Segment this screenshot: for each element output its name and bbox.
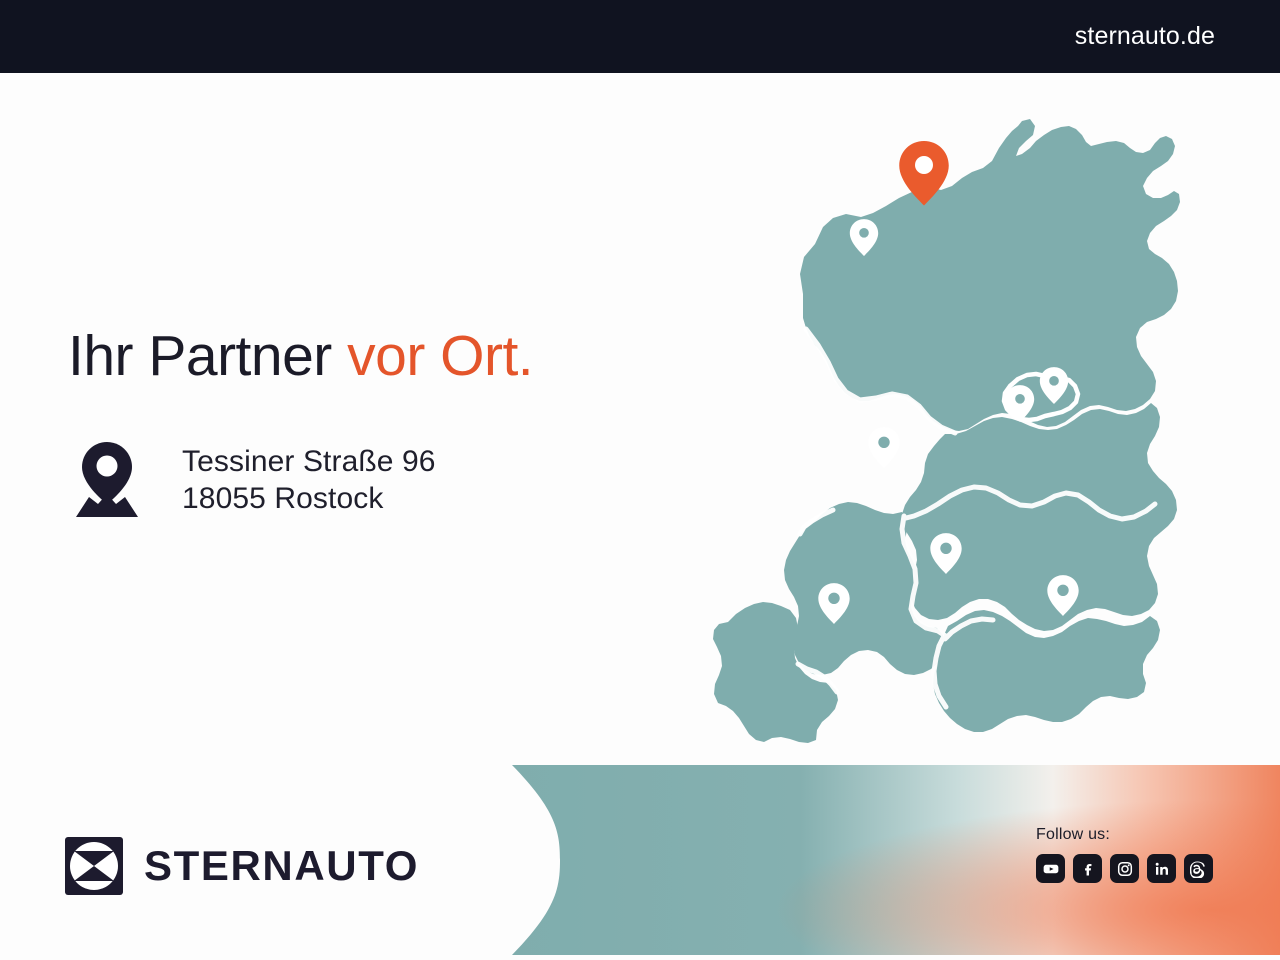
brand-name: STERNAUTO (144, 842, 419, 890)
region-mecklenburg-vorpommern (800, 119, 1180, 431)
linkedin-icon[interactable] (1147, 854, 1176, 883)
address-line-street: Tessiner Straße 96 (182, 443, 436, 480)
dealer-location-map[interactable] (700, 86, 1220, 746)
brand-logo[interactable]: STERNAUTO (65, 837, 419, 895)
page-root: sternauto.de Ihr Partner vor Ort. Tessin… (0, 0, 1280, 960)
instagram-icon[interactable] (1110, 854, 1139, 883)
follow-us-block: Follow us: (1036, 826, 1236, 883)
facebook-icon[interactable] (1073, 854, 1102, 883)
headline-primary: Ihr Partner (68, 324, 332, 388)
top-bar: sternauto.de (0, 0, 1280, 73)
address-lines: Tessiner Straße 96 18055 Rostock (182, 437, 436, 517)
threads-icon[interactable] (1184, 854, 1213, 883)
page-title: Ihr Partner vor Ort. (68, 327, 533, 387)
location-marker-magdeburg[interactable] (868, 427, 899, 468)
headline-accent: vor Ort. (332, 324, 533, 388)
social-links-row (1036, 854, 1236, 883)
sternauto-logo-icon (65, 837, 123, 895)
website-url[interactable]: sternauto.de (1075, 22, 1280, 51)
location-pin-icon (74, 440, 140, 518)
youtube-icon[interactable] (1036, 854, 1065, 883)
address-block: Tessiner Straße 96 18055 Rostock (74, 437, 436, 518)
address-line-city: 18055 Rostock (182, 480, 436, 517)
follow-us-label: Follow us: (1036, 826, 1236, 844)
